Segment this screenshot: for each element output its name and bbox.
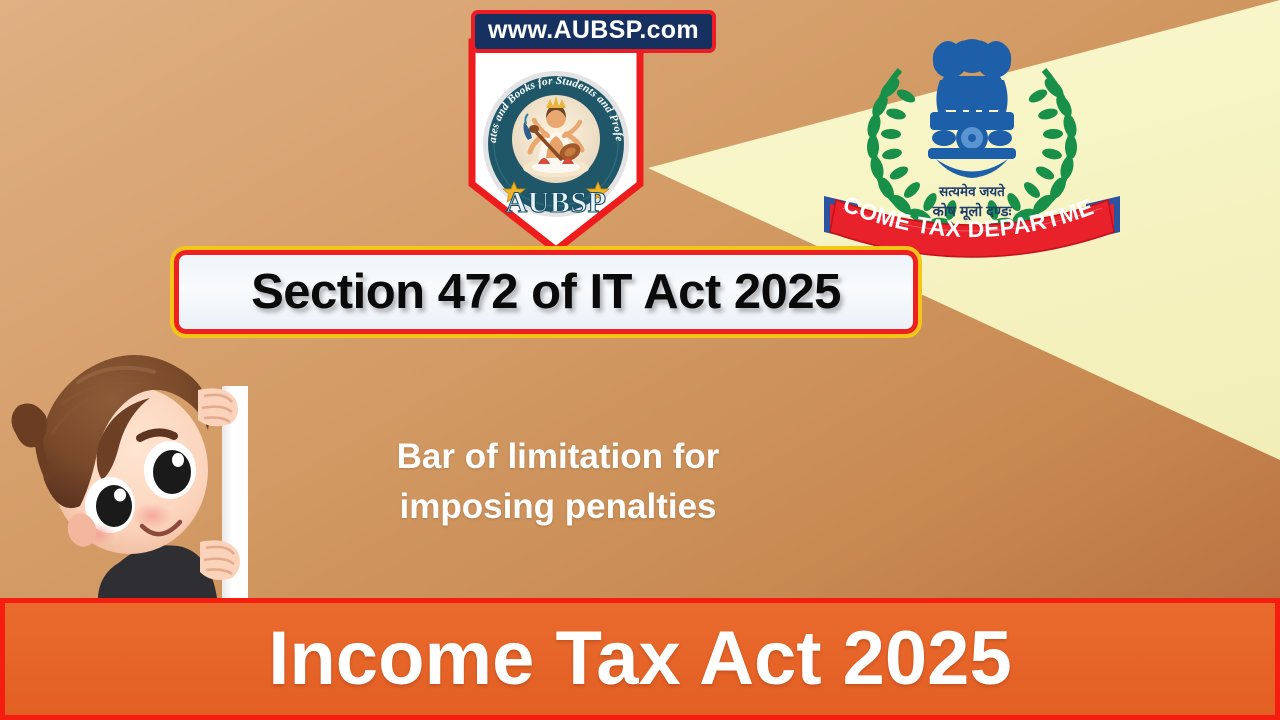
thumbnail-canvas: All Updates and Books for Students and P…: [0, 0, 1280, 720]
eye-right: [144, 441, 196, 499]
cartoon-child-peeking-icon: [2, 330, 257, 605]
bottom-banner: Income Tax Act 2025: [0, 598, 1280, 720]
aubsp-brand-text: AUBSP: [506, 186, 607, 219]
section-title-box: Section 472 of IT Act 2025: [174, 250, 918, 334]
hand-lower: [200, 540, 240, 580]
ashoka-lion-capital-icon: [928, 39, 1016, 178]
page-title: Section 472 of IT Act 2025: [251, 264, 841, 320]
hand-upper: [198, 388, 238, 426]
subtitle-line-1: Bar of limitation for: [258, 432, 858, 482]
website-url-banner[interactable]: www.AUBSP.com: [471, 10, 716, 53]
subtitle-block: Bar of limitation for imposing penalties: [258, 432, 858, 531]
bottom-banner-label: Income Tax Act 2025: [268, 621, 1011, 697]
subtitle-line-2: imposing penalties: [258, 482, 858, 532]
aubsp-shield-logo: All Updates and Books for Students and P…: [466, 36, 646, 254]
income-tax-department-emblem: सत्यमेव जयते कोष मूलो दण्डः INCOME TAX D…: [822, 18, 1122, 260]
motto-satyameva-jayate: सत्यमेव जयते: [938, 183, 1006, 199]
